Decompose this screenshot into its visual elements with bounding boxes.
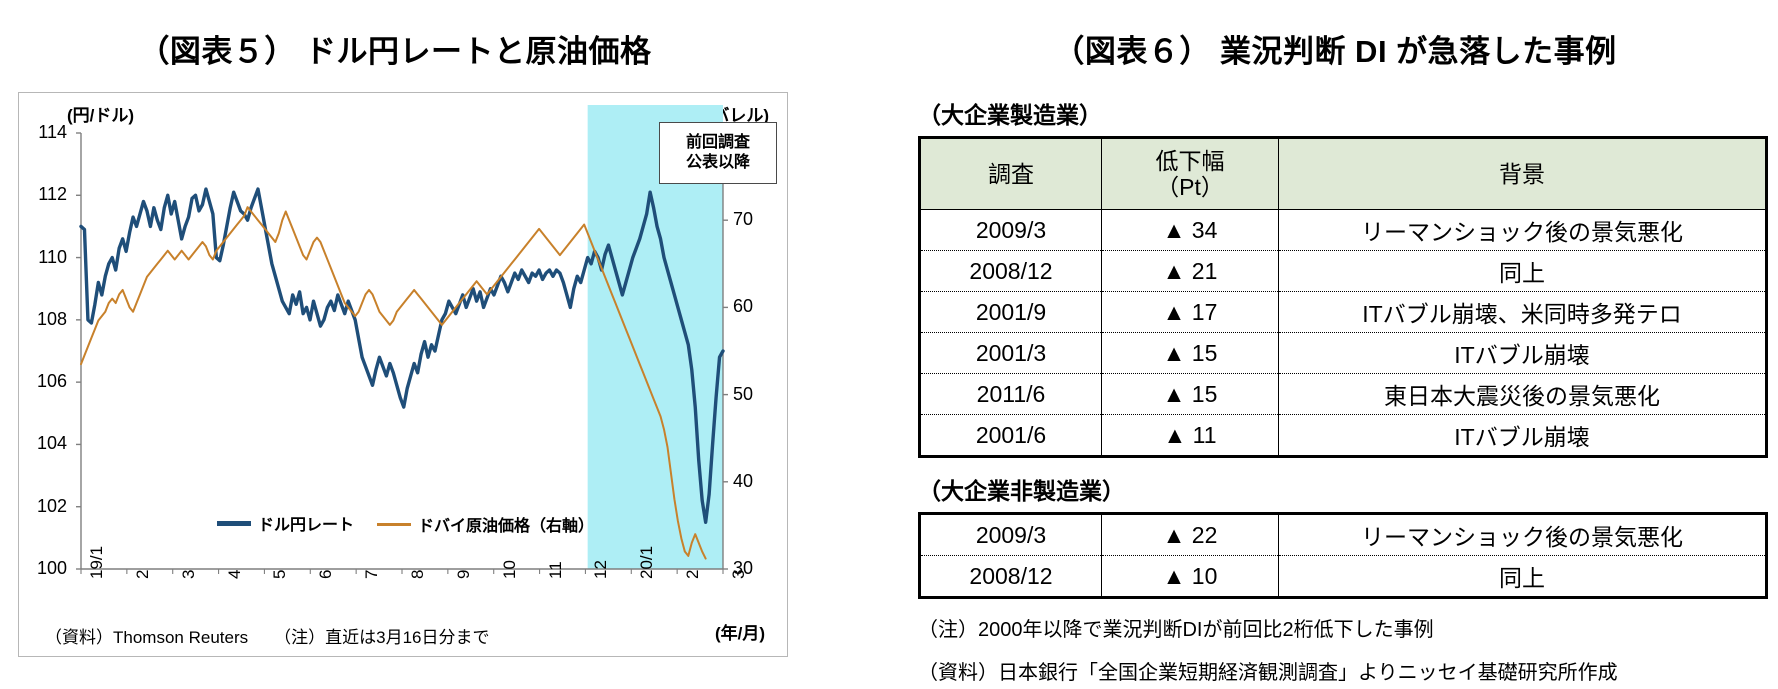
cell-background: ITバブル崩壊、米同時多発テロ [1279, 292, 1767, 333]
column-header-drop-line2: （Pt） [1106, 174, 1274, 200]
x-axis-tick: 19/1 [87, 546, 107, 579]
cell-background: リーマンショック後の景気悪化 [1279, 514, 1767, 556]
x-axis-tick: 10 [500, 560, 520, 579]
x-axis-tick: 6 [316, 570, 336, 579]
cell-drop: ▲ 22 [1102, 514, 1279, 556]
nonmanufacturing-table: 2009/3▲ 22リーマンショック後の景気悪化2008/12▲ 10同上 [918, 512, 1768, 599]
left-axis-tick: 104 [27, 433, 67, 454]
table-row: 2001/3▲ 15ITバブル崩壊 [920, 333, 1767, 374]
table-row: 2001/6▲ 11ITバブル崩壊 [920, 415, 1767, 457]
figure6-note: （注）2000年以降で業況判断DIが前回比2桁低下した事例 [918, 613, 1768, 642]
figure5-note: （注）直近は3月16日分まで [274, 623, 489, 648]
figure5-panel: （図表５） ドル円レートと原油価格 (円/ドル) (ドル/バレル) 前回調査 公… [0, 0, 900, 689]
column-header-survey: 調査 [920, 138, 1102, 210]
figure5-footnotes: （資料）Thomson Reuters （注）直近は3月16日分まで [45, 623, 490, 648]
cell-background: ITバブル崩壊 [1279, 333, 1767, 374]
cell-drop: ▲ 10 [1102, 556, 1279, 598]
cell-drop: ▲ 15 [1102, 333, 1279, 374]
figure6-body: （大企業製造業） 調査 低下幅 （Pt） 背景 2009/3▲ 34リーマンショ… [918, 96, 1768, 685]
left-axis-tick: 100 [27, 558, 67, 579]
cell-survey: 2008/12 [920, 556, 1102, 598]
nonmanufacturing-section-label: （大企業非製造業） [918, 472, 1768, 506]
table-row: 2008/12▲ 10同上 [920, 556, 1767, 598]
x-axis-tick: 20/1 [637, 546, 657, 579]
table-row: 2009/3▲ 22リーマンショック後の景気悪化 [920, 514, 1767, 556]
cell-survey: 2011/6 [920, 374, 1102, 415]
cell-survey: 2001/3 [920, 333, 1102, 374]
cell-background: 同上 [1279, 556, 1767, 598]
x-axis-tick: 5 [270, 570, 290, 579]
table-row: 2009/3▲ 34リーマンショック後の景気悪化 [920, 210, 1767, 251]
manufacturing-table-body: 2009/3▲ 34リーマンショック後の景気悪化2008/12▲ 21同上200… [920, 210, 1767, 457]
right-axis-tick: 50 [733, 384, 773, 405]
cell-drop: ▲ 17 [1102, 292, 1279, 333]
cell-drop: ▲ 15 [1102, 374, 1279, 415]
cell-background: ITバブル崩壊 [1279, 415, 1767, 457]
x-axis-tick: 2 [683, 570, 703, 579]
x-axis-tick: 2 [133, 570, 153, 579]
x-axis-tick: 12 [591, 560, 611, 579]
left-axis-tick: 114 [27, 122, 67, 143]
cell-drop: ▲ 11 [1102, 415, 1279, 457]
cell-survey: 2009/3 [920, 210, 1102, 251]
x-axis-tick: 3 [729, 570, 749, 579]
manufacturing-section-label: （大企業製造業） [918, 96, 1768, 130]
x-axis-tick: 9 [454, 570, 474, 579]
column-header-background: 背景 [1279, 138, 1767, 210]
table-row: 2008/12▲ 21同上 [920, 251, 1767, 292]
cell-survey: 2009/3 [920, 514, 1102, 556]
figure6-title: （図表６） 業況判断 DI が急落した事例 [900, 0, 1770, 71]
x-axis-unit-label: (年/月) [715, 619, 765, 644]
legend-item-fx: ドル円レート [217, 511, 354, 535]
column-header-drop-line1: 低下幅 [1106, 148, 1274, 174]
left-axis-tick: 112 [27, 184, 67, 205]
figure5-chart-container: (円/ドル) (ドル/バレル) 前回調査 公表以降 10010210410610… [18, 92, 788, 657]
x-axis-tick: 11 [546, 561, 566, 579]
legend-swatch-oil [377, 523, 411, 526]
table-row: 2011/6▲ 15東日本大震災後の景気悪化 [920, 374, 1767, 415]
callout-line-2: 公表以降 [686, 153, 750, 173]
x-axis-tick: 8 [408, 570, 428, 579]
x-axis-tick: 7 [362, 570, 382, 579]
column-header-drop: 低下幅 （Pt） [1102, 138, 1279, 210]
right-axis-tick: 40 [733, 471, 773, 492]
left-axis-tick: 102 [27, 496, 67, 517]
cell-drop: ▲ 34 [1102, 210, 1279, 251]
figure6-source: （資料）日本銀行「全国企業短期経済観測調査」よりニッセイ基礎研究所作成 [918, 656, 1768, 685]
cell-survey: 2001/9 [920, 292, 1102, 333]
cell-drop: ▲ 21 [1102, 251, 1279, 292]
page-root: （図表５） ドル円レートと原油価格 (円/ドル) (ドル/バレル) 前回調査 公… [0, 0, 1778, 689]
cell-background: リーマンショック後の景気悪化 [1279, 210, 1767, 251]
table-header-row: 調査 低下幅 （Pt） 背景 [920, 138, 1767, 210]
callout-line-1: 前回調査 [686, 133, 750, 153]
x-axis-tick: 4 [225, 570, 245, 579]
manufacturing-table-head: 調査 低下幅 （Pt） 背景 [920, 138, 1767, 210]
right-axis-tick: 70 [733, 209, 773, 230]
x-axis-tick: 3 [179, 570, 199, 579]
table-row: 2001/9▲ 17ITバブル崩壊、米同時多発テロ [920, 292, 1767, 333]
shaded-region-callout: 前回調査 公表以降 [659, 122, 777, 184]
legend-label-oil: ドバイ原油価格（右軸） [418, 512, 594, 536]
manufacturing-table: 調査 低下幅 （Pt） 背景 2009/3▲ 34リーマンショック後の景気悪化2… [918, 136, 1768, 458]
figure5-source: （資料）Thomson Reuters [45, 623, 248, 648]
cell-survey: 2008/12 [920, 251, 1102, 292]
left-axis-tick: 106 [27, 371, 67, 392]
cell-survey: 2001/6 [920, 415, 1102, 457]
figure6-panel: （図表６） 業況判断 DI が急落した事例 （大企業製造業） 調査 低下幅 （P… [900, 0, 1778, 689]
cell-background: 同上 [1279, 251, 1767, 292]
cell-background: 東日本大震災後の景気悪化 [1279, 374, 1767, 415]
legend-swatch-fx [217, 521, 251, 526]
left-axis-tick: 108 [27, 309, 67, 330]
right-axis-tick: 60 [733, 296, 773, 317]
figure5-title: （図表５） ドル円レートと原油価格 [0, 0, 790, 71]
nonmanufacturing-table-body: 2009/3▲ 22リーマンショック後の景気悪化2008/12▲ 10同上 [920, 514, 1767, 598]
legend-label-fx: ドル円レート [258, 511, 354, 535]
legend-item-oil: ドバイ原油価格（右軸） [377, 512, 594, 536]
left-axis-tick: 110 [27, 247, 67, 268]
